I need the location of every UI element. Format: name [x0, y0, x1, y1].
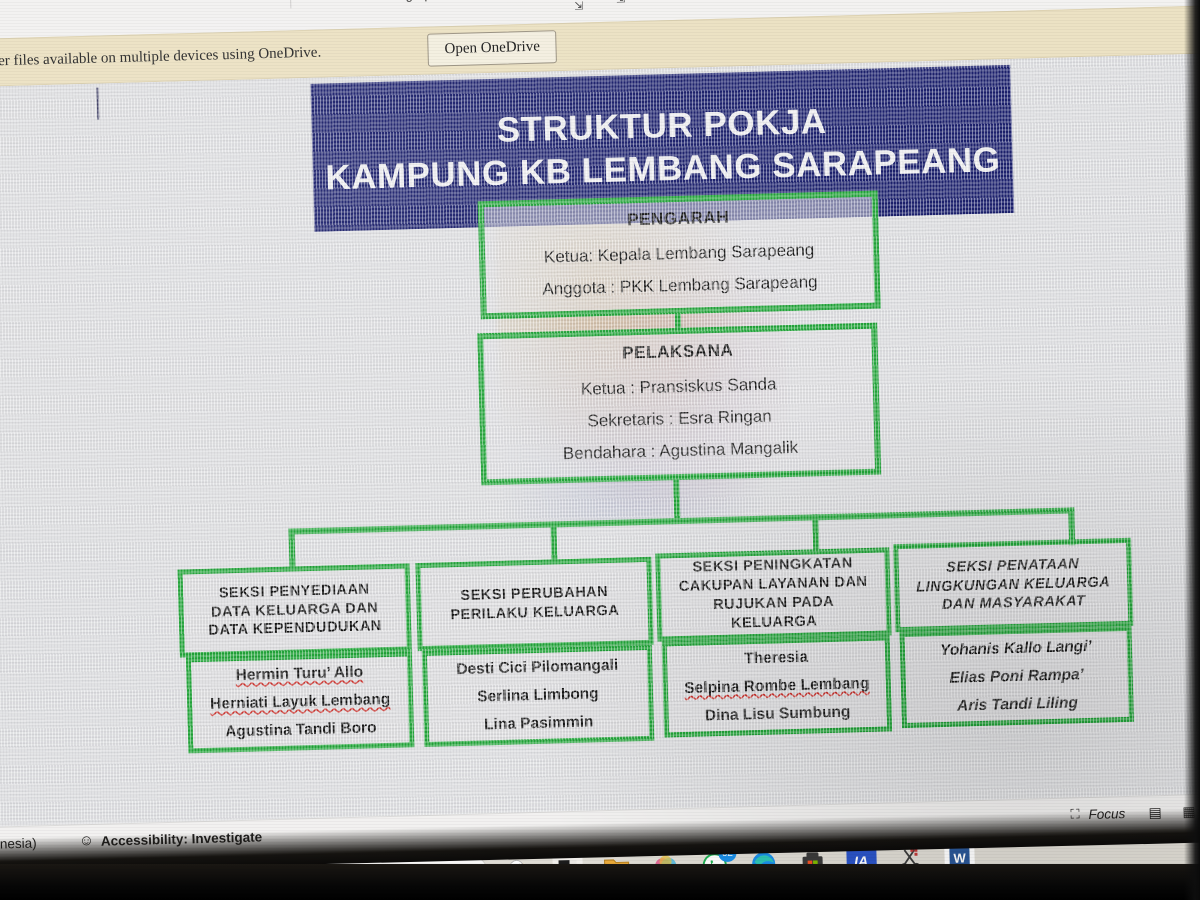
node-pengarah-line-2: Anggota : PKK Lembang Sarapeang: [542, 272, 817, 299]
windows-desktop: Font ⇲ Paragraph ⇲ ⇲ No Spacing Heading …: [0, 0, 1200, 900]
connector-drop-2: [550, 521, 557, 559]
member-name: Dina Lisu Sumbung: [705, 703, 851, 725]
document-area[interactable]: STRUKTUR POKJA KAMPUNG KB LEMBANG SARAPE…: [0, 53, 1200, 828]
chart-title-line-2: KAMPUNG KB LEMBANG SARAPEANG: [325, 139, 1001, 200]
node-seksi-3-title: SEKSI PENINGKATANCAKUPAN LAYANAN DANRUJU…: [678, 554, 869, 634]
member-name: Hermin Turu’ Allo: [235, 664, 363, 685]
node-pengarah-line-1: Ketua: Kepala Lembang Sarapeang: [544, 240, 815, 267]
node-seksi-2-title: SEKSI PERUBAHANPERILAKU KELUARGA: [450, 583, 620, 625]
node-pelaksana-line-1: Ketua : Pransiskus Sanda: [581, 374, 777, 399]
styles-dialog-launcher-icon[interactable]: ⇲: [614, 0, 627, 7]
onedrive-notification-text: d other files available on multiple devi…: [0, 45, 321, 72]
node-pengarah-title: PENGARAH: [627, 207, 730, 230]
ribbon-group-label-paragraph: Paragraph: [378, 0, 439, 3]
node-seksi-1-title: SEKSI PENYEDIAANDATA KELUARGA DANDATA KE…: [207, 580, 382, 641]
node-seksi-3-members: Theresia Selpina Rombe Lembang Dina Lisu…: [662, 635, 893, 737]
member-name: Aris Tandi Liling: [957, 694, 1078, 715]
node-seksi-4-members: Yohanis Kallo Langi’ Elias Poni Rampa’ A…: [899, 626, 1134, 728]
monitor-bezel-bottom: [0, 864, 1200, 900]
connector-drop-3: [812, 514, 819, 552]
member-name: Herniati Layuk Lembang: [210, 691, 390, 714]
connector-pelaksana-stem: [673, 480, 680, 518]
node-seksi-4-header: SEKSI PENATAANLINGKUNGAN KELUARGADAN MAS…: [893, 538, 1133, 632]
org-chart: STRUKTUR POKJA KAMPUNG KB LEMBANG SARAPE…: [0, 53, 1200, 828]
member-name: Elias Poni Rampa’: [949, 666, 1084, 688]
node-seksi-1-members: Hermin Turu’ Allo Herniati Layuk Lembang…: [186, 651, 415, 753]
node-pelaksana-line-3: Bendahara : Agustina Mangalik: [563, 437, 799, 463]
ribbon-separator: [289, 0, 291, 8]
photographed-monitor: Font ⇲ Paragraph ⇲ ⇲ No Spacing Heading …: [0, 0, 1200, 900]
member-name: Lina Pasimmin: [484, 713, 594, 734]
node-seksi-2-header: SEKSI PERUBAHANPERILAKU KELUARGA: [415, 557, 653, 651]
node-pelaksana-line-2: Sekretaris : Esra Ringan: [587, 406, 772, 431]
member-name: Selpina Rombe Lembang: [684, 675, 870, 698]
member-name: Serlina Limbong: [477, 685, 599, 706]
member-name: Desti Cici Pilomangali: [456, 657, 618, 679]
document-page[interactable]: STRUKTUR POKJA KAMPUNG KB LEMBANG SARAPE…: [0, 53, 1200, 828]
member-name: Theresia: [744, 649, 808, 669]
member-name: Agustina Tandi Boro: [225, 719, 377, 741]
node-pelaksana-title: PELAKSANA: [622, 340, 734, 363]
member-name: Yohanis Kallo Langi’: [940, 638, 1092, 660]
node-seksi-2-members: Desti Cici Pilomangali Serlina Limbong L…: [422, 645, 655, 747]
node-pengarah: PENGARAH Ketua: Kepala Lembang Sarapeang…: [478, 191, 881, 320]
node-pelaksana: PELAKSANA Ketua : Pransiskus Sanda Sekre…: [477, 323, 881, 486]
open-onedrive-button[interactable]: Open OneDrive: [427, 30, 557, 66]
node-seksi-4-title: SEKSI PENATAANLINGKUNGAN KELUARGADAN MAS…: [916, 554, 1111, 616]
node-seksi-1-header: SEKSI PENYEDIAANDATA KELUARGA DANDATA KE…: [178, 563, 412, 657]
paragraph-dialog-launcher-icon[interactable]: ⇲: [572, 0, 585, 13]
monitor-bezel-right: [1184, 0, 1200, 900]
node-seksi-3-header: SEKSI PENINGKATANCAKUPAN LAYANAN DANRUJU…: [655, 547, 891, 641]
